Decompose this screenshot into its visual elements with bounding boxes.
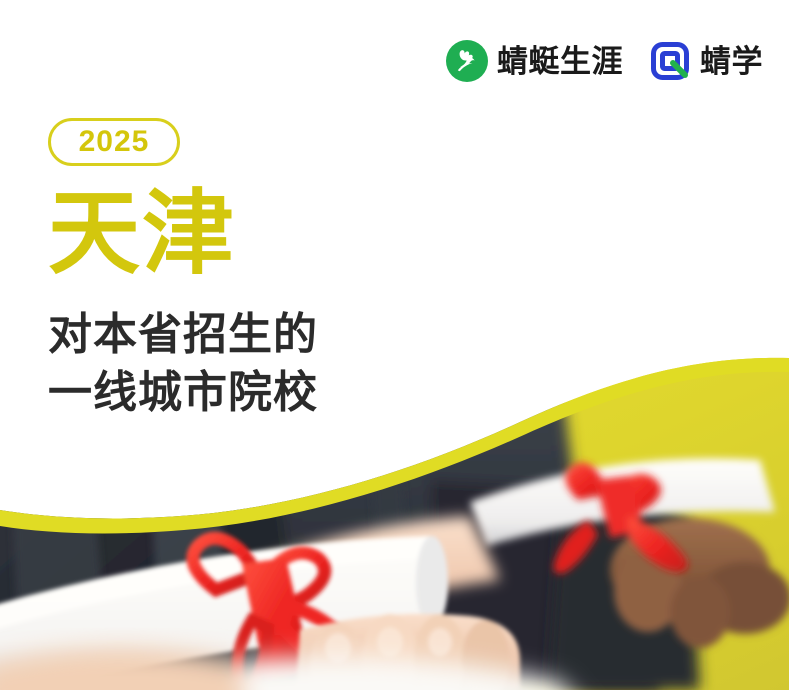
- qingxue-q-logo-mark: [649, 40, 691, 82]
- logo-wordmark-qingxue: 蜻学: [700, 46, 763, 77]
- page-subtitle-line-1: 对本省招生的: [48, 306, 318, 364]
- logo-qingting-shengya[interactable]: 蜻蜓生涯: [446, 40, 623, 82]
- poster-canvas: 蜻蜓生涯 蜻学 2025 天津 对本省招生的 一线城市院校: [0, 0, 789, 690]
- page-title: 天津: [48, 186, 236, 283]
- logo-wordmark-qingting-shengya: 蜻蜓生涯: [497, 46, 623, 77]
- page-subtitle-line-2: 一线城市院校: [48, 364, 318, 422]
- year-badge: 2025: [48, 118, 180, 166]
- page-subtitle: 对本省招生的 一线城市院校: [48, 306, 318, 422]
- year-badge-label: 2025: [79, 127, 150, 157]
- page-title-province: 天津: [48, 186, 236, 283]
- dragonfly-circle-logo-mark: [446, 40, 488, 82]
- brand-logo-bar: 蜻蜓生涯 蜻学: [446, 40, 763, 82]
- logo-qingxue[interactable]: 蜻学: [649, 40, 763, 82]
